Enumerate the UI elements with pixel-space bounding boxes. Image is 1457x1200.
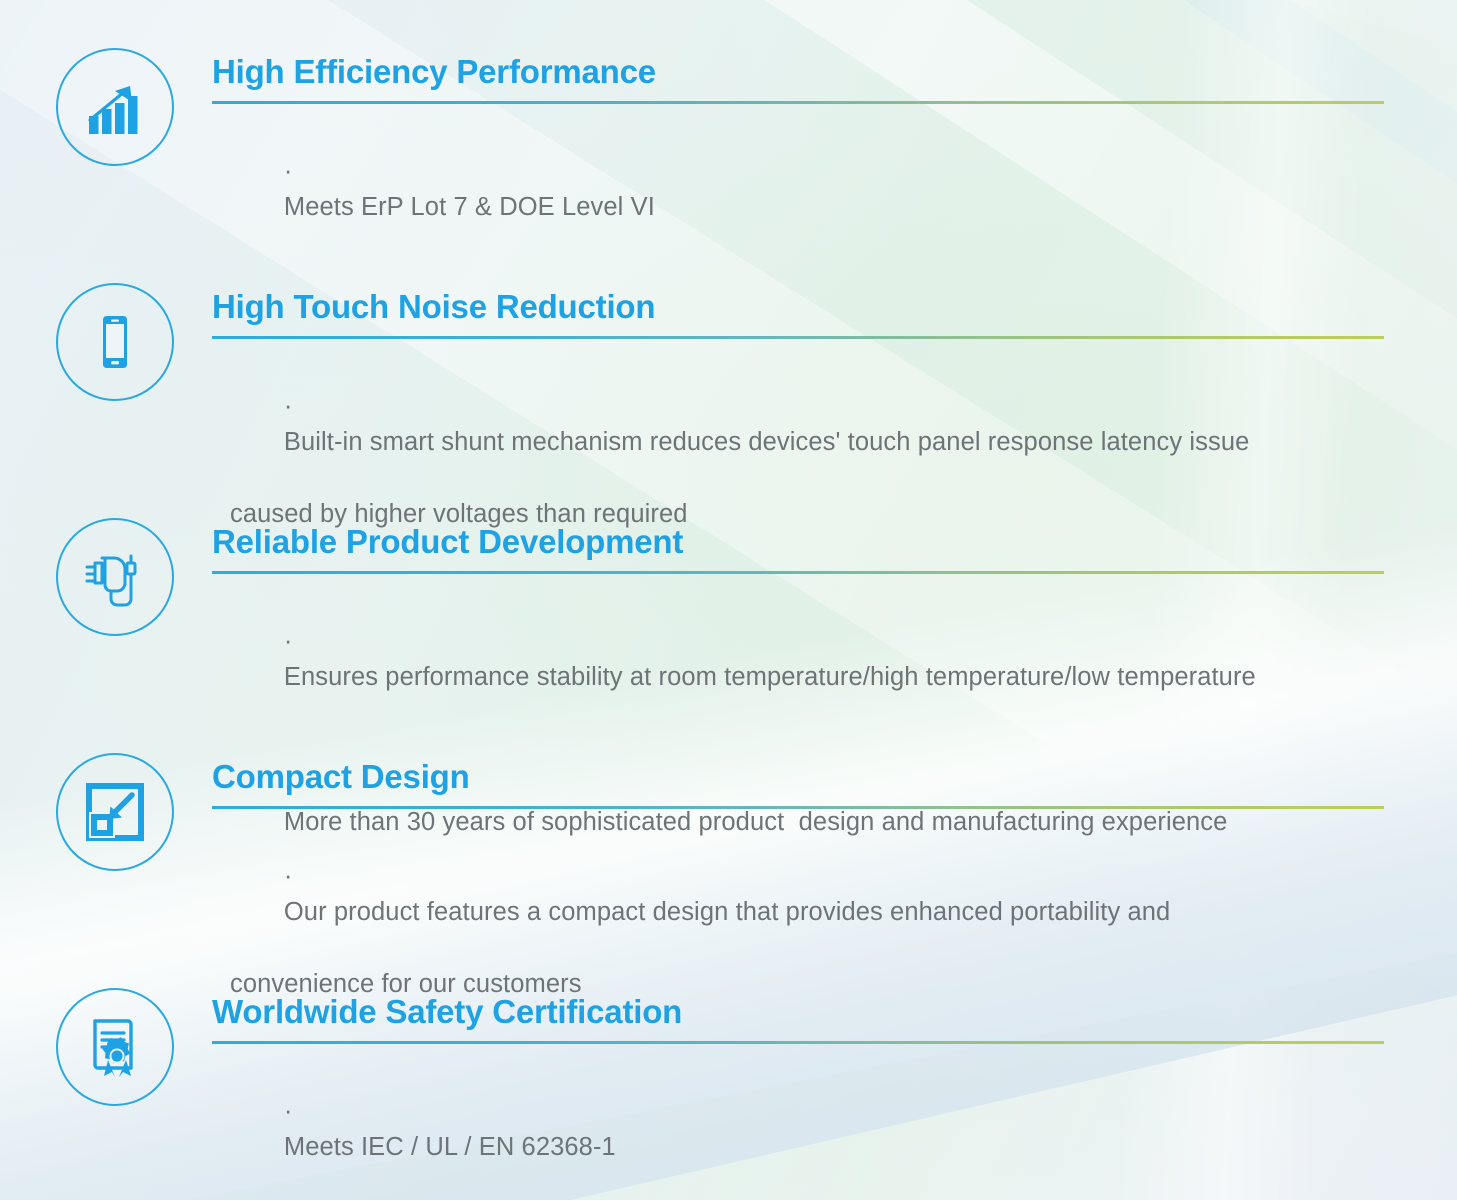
compact-resize-icon [85,782,145,842]
bullet-icon: · [284,627,293,655]
bullet-icon: · [284,862,293,890]
bullet-icon: · [284,1097,293,1125]
feature-title: High Efficiency Performance [212,54,1387,90]
feature-icon-circle [56,48,174,166]
feature-item-worldwide-safety-certification: Worldwide Safety Certification · Meets I… [0,988,1387,1200]
feature-list: High Efficiency Performance · Meets ErP … [0,0,1457,1200]
bullet-icon: · [284,157,293,185]
bar-chart-growth-icon [84,76,146,138]
bullet-text: Our product features a compact design th… [284,898,1170,926]
feature-title: Worldwide Safety Certification [212,994,1387,1030]
feature-divider [212,571,1384,574]
power-adapter-icon [82,544,148,610]
feature-description: · Meets ErP Lot 7 & DOE Level VI [212,117,1387,262]
feature-title: Reliable Product Development [212,524,1387,560]
feature-divider [212,101,1384,104]
feature-title: Compact Design [212,759,1387,795]
feature-divider [212,1041,1384,1044]
feature-item-high-efficiency-performance: High Efficiency Performance · Meets ErP … [0,48,1387,261]
feature-bullet-line: · Meets IEC / UL / EN 62368-1 [212,1057,1387,1200]
bullet-text: Meets ErP Lot 7 & DOE Level VI [284,193,655,221]
smartphone-icon [84,311,146,373]
feature-icon-circle [56,283,174,401]
feature-bullet-line: · Ensures performance stability at room … [212,587,1387,732]
feature-icon-circle [56,988,174,1106]
bullet-icon: · [284,392,293,420]
feature-description: · Meets IEC / UL / EN 62368-1 [212,1057,1387,1200]
feature-body: Worldwide Safety Certification · Meets I… [212,988,1387,1200]
bullet-text: Built-in smart shunt mechanism reduces d… [284,428,1250,456]
bullet-text: Ensures performance stability at room te… [284,663,1256,691]
feature-body: High Efficiency Performance · Meets ErP … [212,48,1387,261]
certificate-seal-icon [84,1016,146,1078]
feature-bullet-line: · Meets ErP Lot 7 & DOE Level VI [212,117,1387,262]
feature-divider [212,336,1384,339]
feature-title: High Touch Noise Reduction [212,289,1387,325]
feature-divider [212,806,1384,809]
feature-icon-circle [56,753,174,871]
feature-icon-circle [56,518,174,636]
bullet-text: Meets IEC / UL / EN 62368-1 [284,1133,616,1161]
